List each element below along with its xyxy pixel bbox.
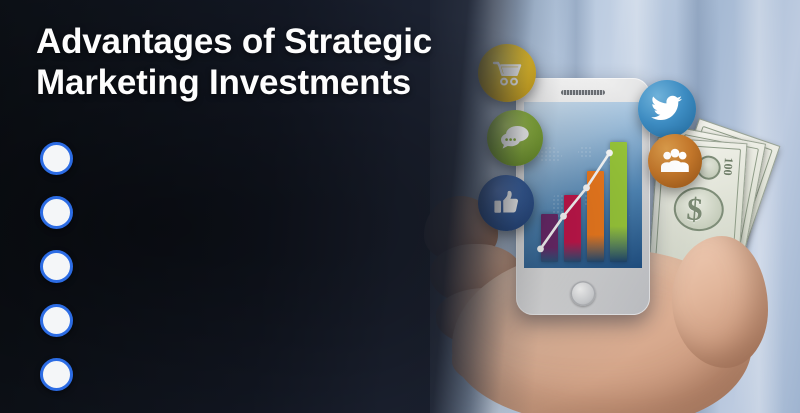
list-item[interactable] — [40, 293, 460, 347]
content-layer: Advantages of Strategic Marketing Invest… — [0, 0, 800, 413]
list-item[interactable] — [40, 131, 460, 185]
advantages-list — [40, 131, 460, 401]
list-item-number-badge — [40, 250, 73, 283]
list-item[interactable] — [40, 239, 460, 293]
title-line-1: Advantages of Strategic — [36, 22, 432, 61]
list-item-number-badge — [40, 304, 73, 337]
page-title: Advantages of Strategic Marketing Invest… — [36, 22, 476, 104]
infographic-canvas: $ 100 100 — [0, 0, 800, 413]
list-item-number-badge — [40, 358, 73, 391]
list-item[interactable] — [40, 347, 460, 401]
list-item-number-badge — [40, 142, 73, 175]
title-line-2: Marketing Investments — [36, 63, 411, 102]
list-item-number-badge — [40, 196, 73, 229]
list-item[interactable] — [40, 185, 460, 239]
